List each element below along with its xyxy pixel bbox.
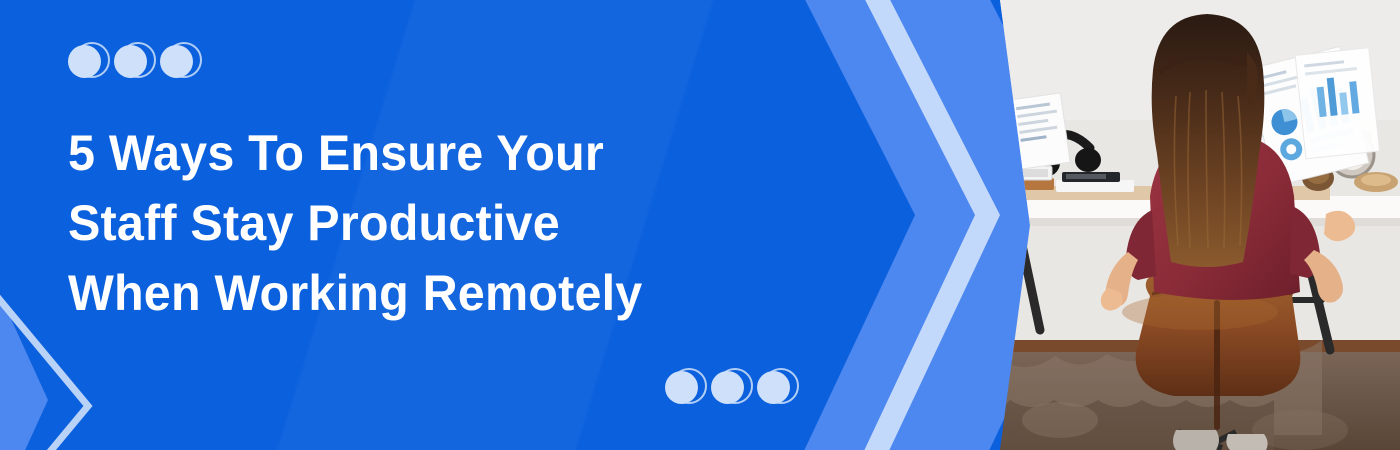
dot-fill [160, 45, 193, 78]
circle-dot-icon [68, 42, 106, 80]
decorative-dots-top [68, 42, 206, 80]
dot-fill [114, 45, 147, 78]
divider-chevrons [770, 0, 1000, 450]
headline-line-1: 5 Ways To Ensure Your [68, 118, 766, 188]
headline-line-2: Staff Stay Productive [68, 188, 766, 258]
remote-worker-photo [1000, 0, 1400, 450]
headline-line-3: When Working Remotely [68, 258, 766, 328]
dot-fill [68, 45, 101, 78]
circle-dot-icon [160, 42, 198, 80]
circle-dot-icon [114, 42, 152, 80]
banner-headline: 5 Ways To Ensure Your Staff Stay Product… [68, 118, 766, 328]
dot-fill [711, 371, 744, 404]
circle-dot-icon [711, 368, 749, 406]
person-head-hair [1152, 14, 1265, 267]
promotional-banner: 5 Ways To Ensure Your Staff Stay Product… [0, 0, 1400, 450]
paper-left [1009, 93, 1070, 170]
circle-dot-icon [665, 368, 703, 406]
dot-fill [665, 371, 698, 404]
